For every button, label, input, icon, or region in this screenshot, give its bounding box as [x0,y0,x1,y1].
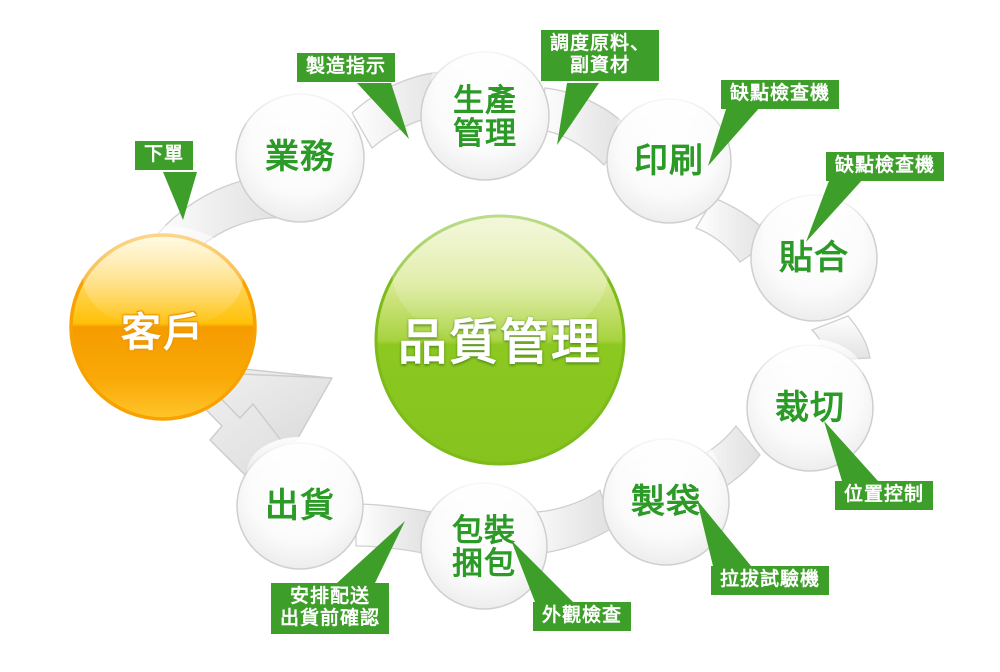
callout-mfg-instruction-text: 製造指示 [297,53,395,82]
callout-pull-test[interactable]: 拉拔試驗機 [711,566,829,595]
process-cycle-diagram: 業務 生產 管理 印刷 貼合 裁切 製袋 包裝 捆包 出貨 品質管理 客戶 下單… [0,0,1000,672]
callout-position-control[interactable]: 位置控制 [835,481,933,510]
callout-order-tail [157,172,227,232]
callout-appearance-check[interactable]: 外觀檢查 [533,602,631,631]
callout-material-arrange[interactable]: 調度原料、 副資材 [541,30,659,81]
callout-order[interactable]: 下單 [135,141,193,170]
callout-defect-check-2-tail [820,178,910,258]
callout-position-control-tail [832,435,922,515]
callout-defect-check-1-text: 缺點檢查機 [721,80,839,109]
callout-defect-check-2-text: 缺點檢查機 [826,152,944,181]
customer-title: 客戶 [103,300,223,358]
callout-material-arrange-text: 調度原料、 副資材 [541,30,659,81]
callout-material-arrange-tail [555,83,635,163]
node-circle-sales[interactable] [236,86,364,222]
callout-appearance-check-tail [529,546,619,626]
callout-defect-check-1[interactable]: 缺點檢查機 [721,80,839,109]
callout-delivery-arrange[interactable]: 安排配送 出貨前確認 [271,583,389,634]
callout-defect-check-1-tail [717,106,807,186]
callout-order-text: 下單 [135,141,193,170]
callout-defect-check-2[interactable]: 缺點檢查機 [826,152,944,181]
callout-mfg-instruction[interactable]: 製造指示 [297,53,395,82]
callout-pull-test-tail [705,516,795,596]
callout-mfg-instruction-tail [357,83,447,153]
callout-delivery-arrange-tail [335,533,435,613]
center-title: 品質管理 [376,303,624,374]
